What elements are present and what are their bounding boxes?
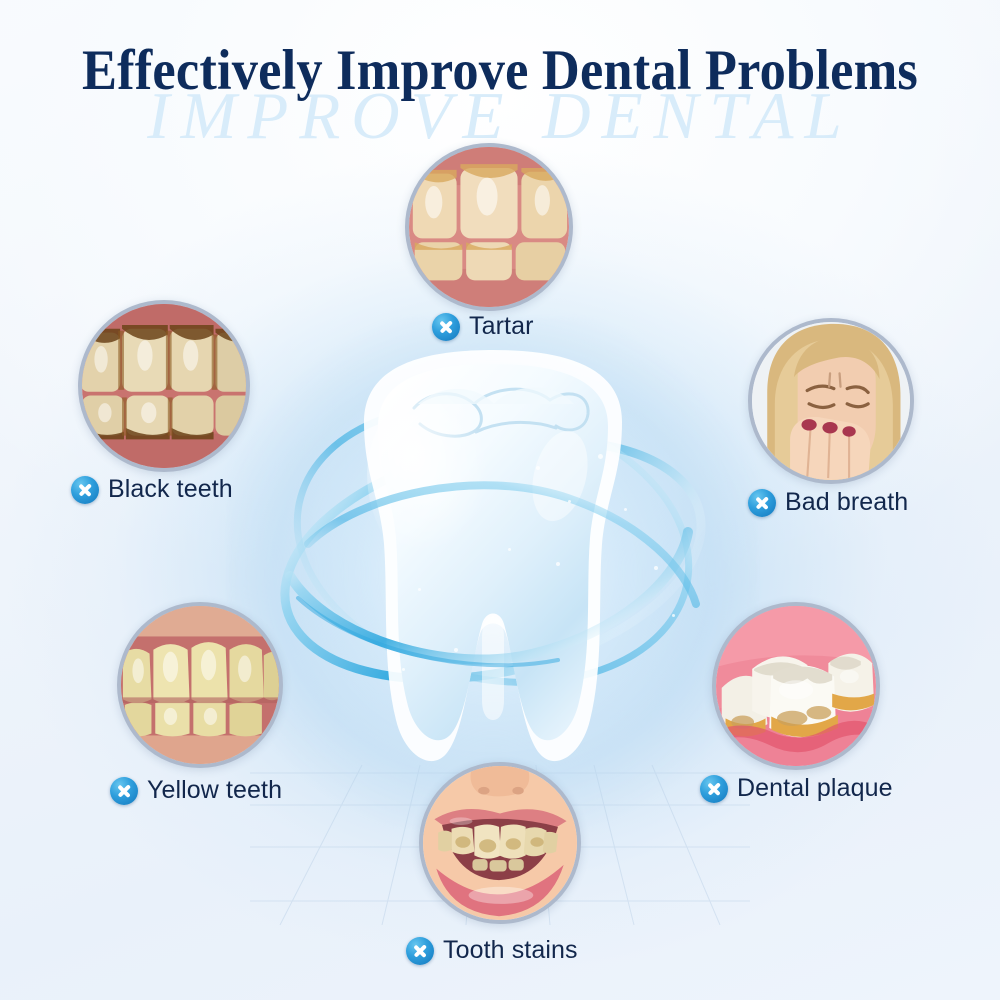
bubble-dental-plaque[interactable]: [712, 602, 880, 770]
x-circle-icon: [432, 313, 460, 341]
bubble-yellow-teeth[interactable]: [117, 602, 283, 768]
poster-canvas: IMPROVE DENTAL Effectively Improve Denta…: [0, 0, 1000, 1000]
tartar-teeth-photo: [409, 147, 569, 307]
problem-label: Tooth stains: [443, 936, 578, 965]
dental-plaque-render: [716, 606, 876, 766]
problem-label: Bad breath: [785, 488, 908, 517]
problem-label: Yellow teeth: [147, 776, 282, 805]
label-tooth-stains: Tooth stains: [406, 936, 578, 965]
x-circle-icon: [700, 775, 728, 803]
problem-label: Dental plaque: [737, 774, 893, 803]
x-circle-icon: [71, 476, 99, 504]
label-yellow-teeth: Yellow teeth: [110, 776, 282, 805]
black-teeth-photo: [82, 304, 246, 468]
label-bad-breath: Bad breath: [748, 488, 908, 517]
problem-label: Black teeth: [108, 475, 233, 504]
stained-smile-photo: [423, 766, 577, 920]
problem-label: Tartar: [469, 312, 534, 341]
bubble-black-teeth[interactable]: [78, 300, 250, 472]
label-black-teeth: Black teeth: [71, 475, 233, 504]
bubble-tartar[interactable]: [405, 143, 573, 311]
healthy-tooth-illustration: [268, 348, 718, 788]
bubble-bad-breath[interactable]: [748, 318, 914, 484]
x-circle-icon: [110, 777, 138, 805]
x-circle-icon: [406, 937, 434, 965]
x-circle-icon: [748, 489, 776, 517]
bubble-tooth-stains[interactable]: [419, 762, 581, 924]
woman-covering-mouth-photo: [752, 322, 910, 480]
yellow-teeth-photo: [121, 606, 279, 764]
page-title: Effectively Improve Dental Problems: [40, 38, 960, 103]
label-tartar: Tartar: [432, 312, 534, 341]
label-dental-plaque: Dental plaque: [700, 774, 893, 803]
header: IMPROVE DENTAL Effectively Improve Denta…: [0, 0, 1000, 150]
